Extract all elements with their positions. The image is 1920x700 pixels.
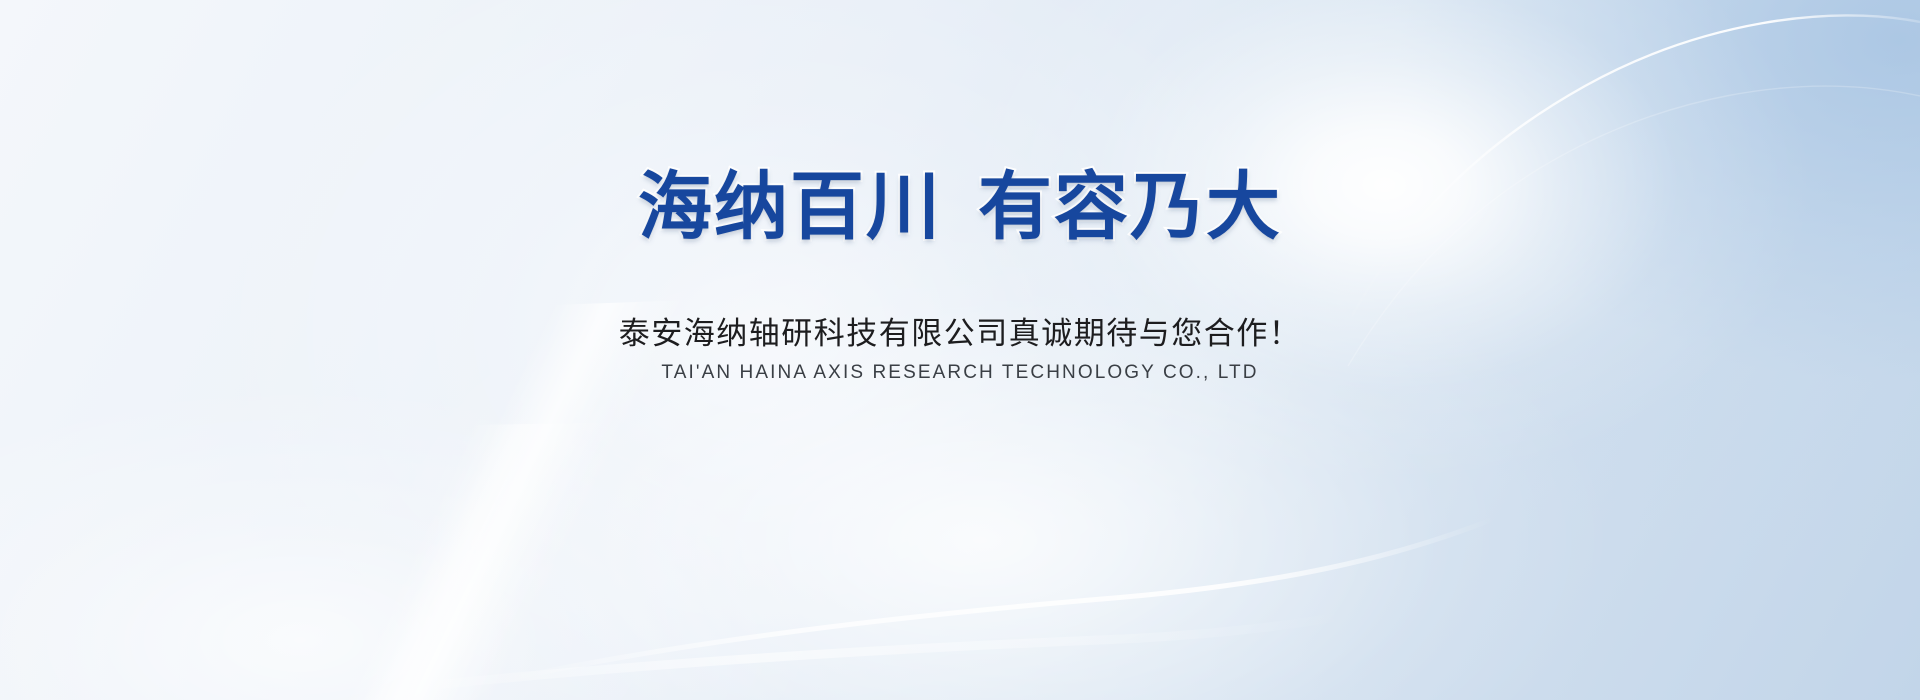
banner-subtitle-chinese: 泰安海纳轴研科技有限公司真诚期待与您合作！ [0,308,1920,353]
hero-banner: 海纳百川有容乃大 泰安海纳轴研科技有限公司真诚期待与您合作！ TAI'AN HA… [0,0,1920,700]
banner-subtitle-english: TAI'AN HAINA AXIS RESEARCH TECHNOLOGY CO… [0,362,1920,384]
banner-content: 海纳百川有容乃大 泰安海纳轴研科技有限公司真诚期待与您合作！ TAI'AN HA… [0,0,1920,700]
headline-part-1: 海纳百川 [638,164,942,250]
banner-headline: 海纳百川有容乃大 [0,168,1920,248]
headline-part-2: 有容乃大 [978,164,1282,250]
